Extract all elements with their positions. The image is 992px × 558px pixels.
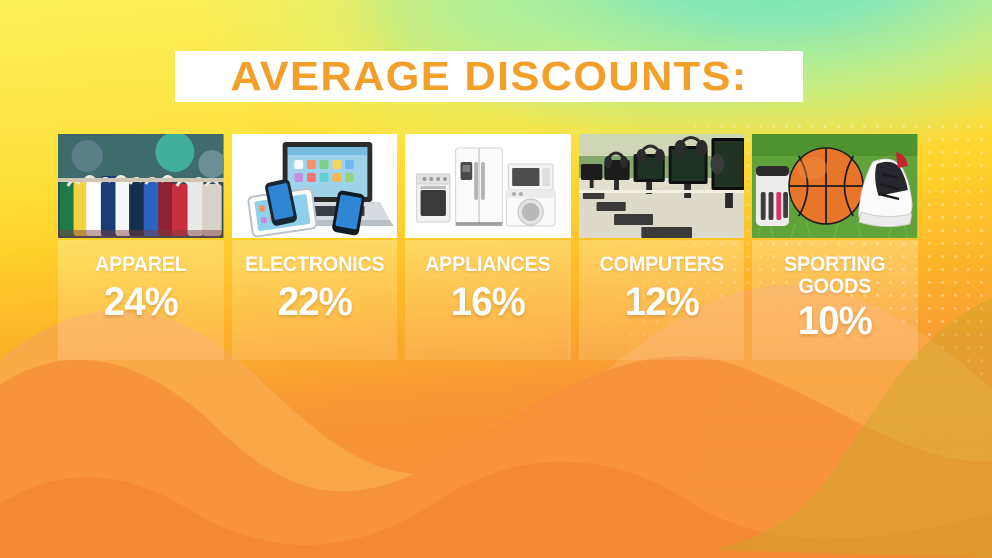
category-card-sporting-goods[interactable]: SPORTING GOODS 10% bbox=[752, 134, 918, 360]
appliances-photo bbox=[405, 134, 571, 238]
category-label: COMPUTERS bbox=[584, 254, 740, 275]
category-value: 16% bbox=[408, 281, 567, 323]
category-card-row: APPAREL 24% bbox=[58, 134, 918, 360]
card-text: COMPUTERS 12% bbox=[579, 238, 745, 323]
card-text: APPAREL 24% bbox=[58, 238, 224, 323]
category-card-electronics[interactable]: ELECTRONICS 22% bbox=[232, 134, 398, 360]
category-value: 10% bbox=[756, 300, 915, 342]
category-value: 12% bbox=[582, 281, 741, 323]
category-card-appliances[interactable]: APPLIANCES 16% bbox=[405, 134, 571, 360]
category-value: 22% bbox=[235, 281, 394, 323]
apparel-photo bbox=[58, 134, 224, 238]
card-text: SPORTING GOODS 10% bbox=[752, 238, 918, 342]
category-label: ELECTRONICS bbox=[237, 254, 393, 275]
electronics-photo bbox=[232, 134, 398, 238]
title-banner: AVERAGE DISCOUNTS: bbox=[175, 51, 803, 102]
card-text: ELECTRONICS 22% bbox=[232, 238, 398, 323]
computers-photo bbox=[579, 134, 745, 238]
category-label: APPLIANCES bbox=[410, 254, 566, 275]
category-value: 24% bbox=[61, 281, 220, 323]
page-title: AVERAGE DISCOUNTS: bbox=[230, 53, 747, 100]
category-card-apparel[interactable]: APPAREL 24% bbox=[58, 134, 224, 360]
category-label: APPAREL bbox=[63, 254, 219, 275]
category-label: SPORTING GOODS bbox=[757, 254, 913, 298]
category-card-computers[interactable]: COMPUTERS 12% bbox=[579, 134, 745, 360]
sporting-goods-photo bbox=[752, 134, 918, 238]
broadcast-graphic: AVERAGE DISCOUNTS: bbox=[0, 0, 992, 558]
card-text: APPLIANCES 16% bbox=[405, 238, 571, 323]
